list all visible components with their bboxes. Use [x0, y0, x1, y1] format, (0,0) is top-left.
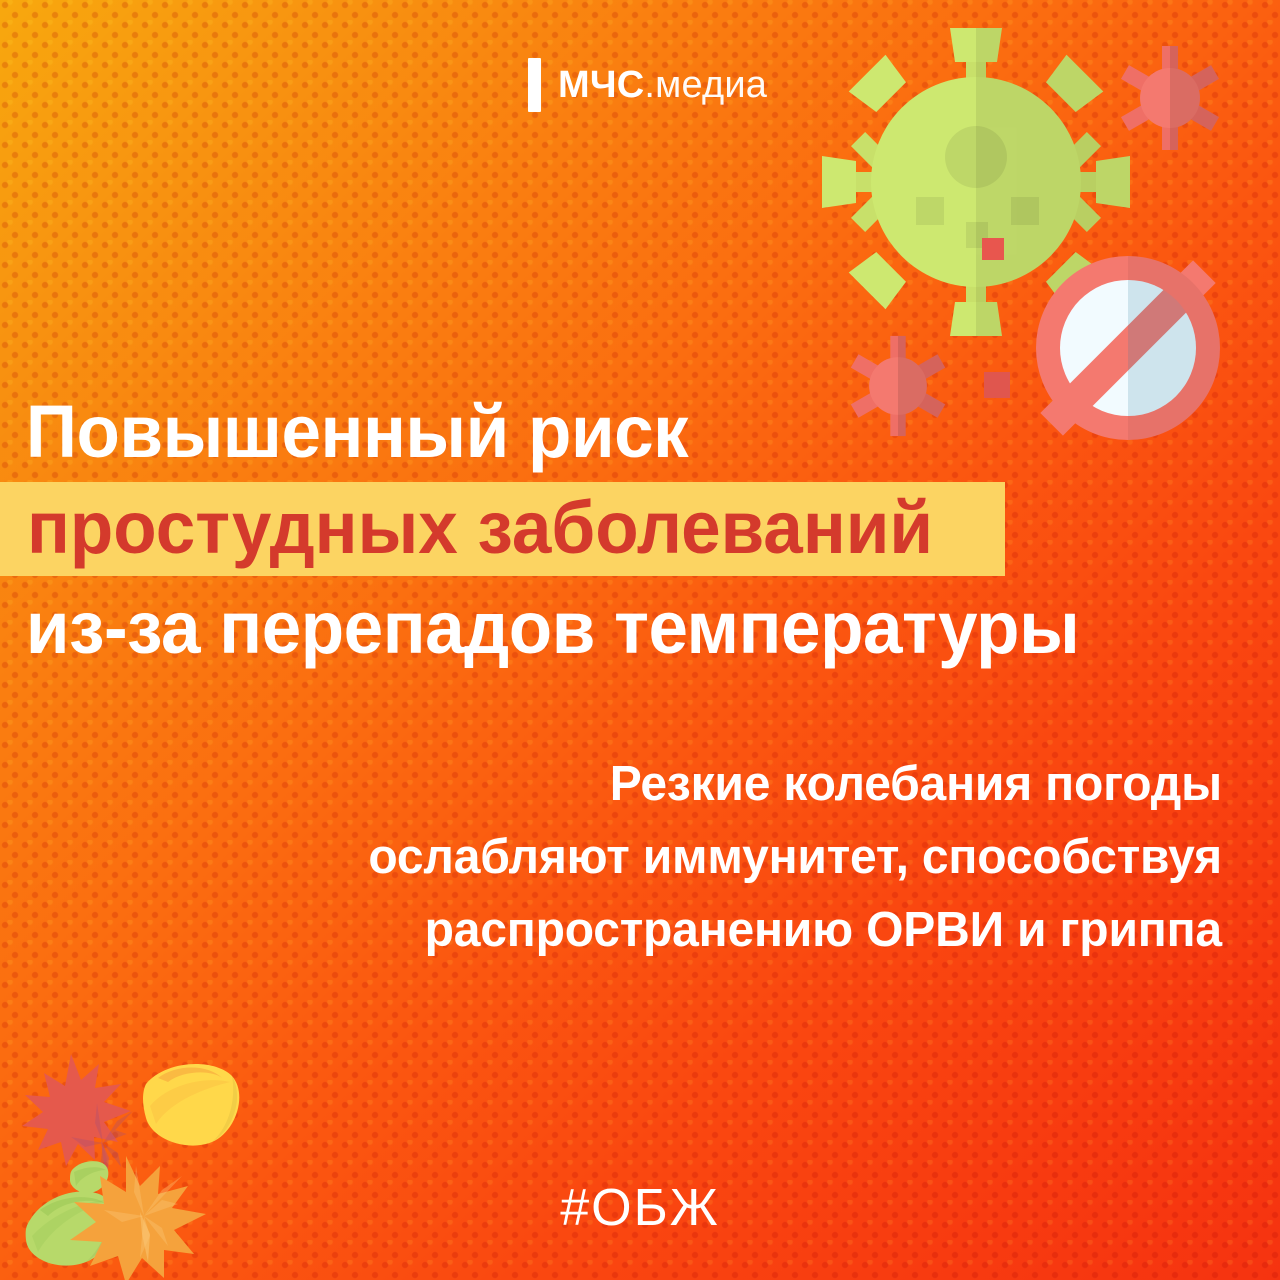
autumn-leaves-group: [8, 1048, 258, 1280]
virus-icon: [1116, 44, 1224, 152]
headline-block: Повышенный риск простудных заболеваний и…: [0, 386, 1280, 674]
leaf-icon: [143, 1064, 239, 1146]
headline-line-2: простудных заболеваний: [27, 489, 966, 567]
logo-bar-icon: [528, 58, 541, 112]
poster-canvas: МЧС.медиа: [0, 0, 1280, 1280]
brand-logo[interactable]: МЧС.медиа: [528, 58, 767, 112]
body-line-2: ослабляют иммунитет, способствуя: [369, 821, 1222, 894]
brand-wordmark: МЧС.медиа: [558, 66, 767, 104]
maple-leaf-icon: [22, 1054, 133, 1180]
virus-fragment-icon: [982, 238, 1004, 260]
hashtag-footer: #ОБЖ: [0, 1178, 1280, 1238]
headline-highlight-box: простудных заболеваний: [0, 482, 1005, 576]
headline-line-1: Повышенный риск: [0, 386, 1229, 478]
headline-line-3: из-за перепадов температуры: [0, 582, 1229, 674]
brand-name-bold: МЧС: [558, 64, 644, 106]
body-line-1: Резкие колебания погоды: [369, 748, 1222, 821]
body-line-3: распространению ОРВИ и гриппа: [369, 894, 1222, 967]
brand-name-light: .медиа: [644, 64, 767, 106]
body-text-block: Резкие колебания погоды ослабляют иммуни…: [351, 748, 1222, 967]
